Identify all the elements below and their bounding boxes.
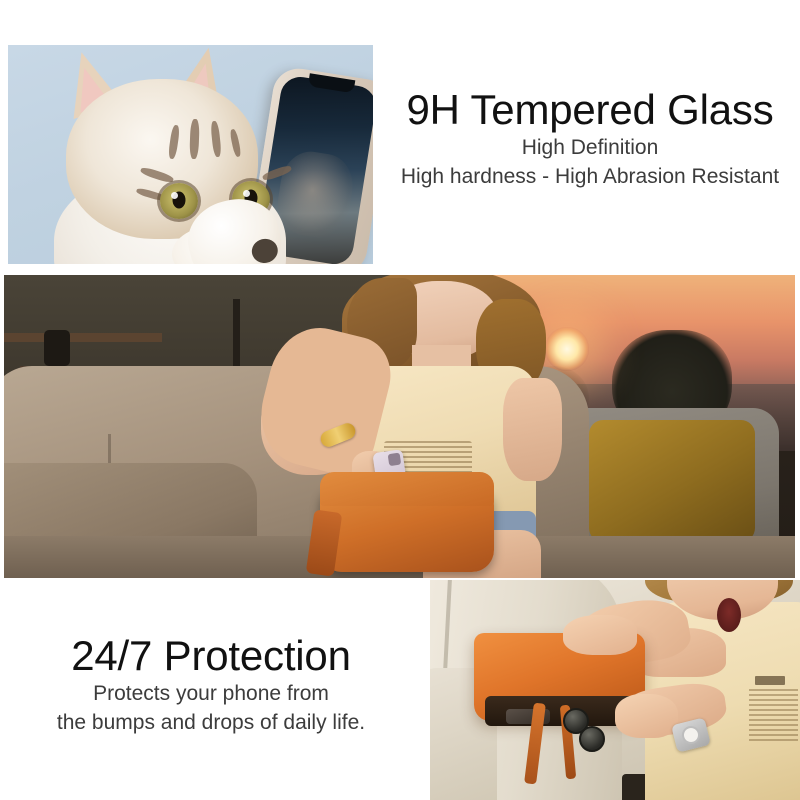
photo-bag-spill	[430, 580, 800, 800]
sunglasses-lens-right	[579, 726, 605, 752]
cat-stripe	[189, 119, 199, 159]
snatch-print-title	[755, 676, 784, 684]
olive-pillow	[589, 420, 755, 541]
infographic-page: 9H Tempered Glass High Definition High h…	[0, 0, 800, 800]
glass-headline: 9H Tempered Glass	[390, 88, 790, 133]
cat-eye-left	[160, 183, 198, 219]
snatch-hand-upper	[563, 615, 637, 655]
protection-subline-1: Protects your phone from	[10, 679, 412, 709]
cat-stripe	[210, 121, 222, 158]
snatch-open-mouth	[717, 598, 741, 632]
photo-cat-with-phone	[8, 45, 373, 264]
protection-text-block: 24/7 Protection Protects your phone from…	[10, 634, 412, 738]
cat-scene	[8, 45, 373, 264]
cat-stripe	[229, 129, 242, 158]
glass-subline-2: High hardness - High Abrasion Resistant	[390, 162, 790, 192]
glass-subline-1: High Definition	[390, 133, 790, 163]
handbag-flap	[320, 472, 494, 506]
photo-phone-into-bag	[4, 275, 795, 578]
watch-face	[680, 724, 702, 746]
woman-right-arm	[503, 378, 562, 481]
cat-stripe	[168, 125, 181, 160]
room-upper-shelf	[4, 333, 162, 342]
protection-subline-2: the bumps and drops of daily life.	[10, 708, 412, 738]
phone-camera-module	[387, 453, 401, 467]
snatch-hand-lower	[615, 694, 678, 738]
glass-text-block: 9H Tempered Glass High Definition High h…	[390, 88, 790, 192]
cat-stripe	[140, 166, 175, 184]
protection-headline: 24/7 Protection	[10, 634, 412, 679]
orange-handbag	[320, 487, 494, 572]
room-decor-object	[44, 330, 70, 366]
snatch-tank-print	[749, 689, 798, 743]
phone-reflection	[273, 147, 357, 241]
